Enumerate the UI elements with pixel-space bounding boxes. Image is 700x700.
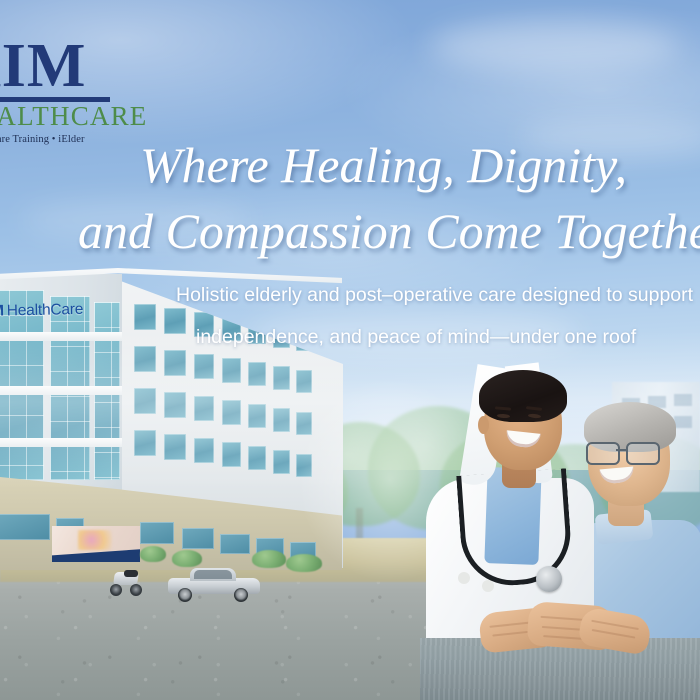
cloud-wisp [20,200,250,240]
building-signage: AIMHealthCare [0,301,83,321]
stethoscope-tip [458,572,470,584]
shrub [286,554,322,572]
logo-tagline: Senior Care Training • iElder [0,134,136,145]
logo[interactable]: AIM HEALTHCARE Senior Care Training • iE… [0,38,136,145]
doctor-and-patient-photo [420,360,700,700]
stethoscope-tip [482,580,494,592]
lobby-poster [52,526,140,562]
logo-wordmark-healthcare: HEALTHCARE [0,103,136,130]
building-sign-aim: AIM [0,303,4,321]
silver-sedan [168,566,260,598]
shrub [172,550,202,567]
hero-banner: AIMHealthCare AIM HEALTHCARE Senior Care… [0,0,700,700]
motorcycle [110,568,144,598]
poster-graphic [78,530,112,550]
eyeglasses-icon [586,442,670,462]
logo-wordmark-aim: AIM [0,38,136,95]
cloud-wisp [430,20,680,72]
building-sign-healthcare: HealthCare [7,301,84,320]
stethoscope-bell [536,566,562,592]
doctor-ear [478,416,489,434]
doctor-hair [479,370,567,422]
shrub [140,546,166,562]
cloud-wisp [520,118,700,156]
